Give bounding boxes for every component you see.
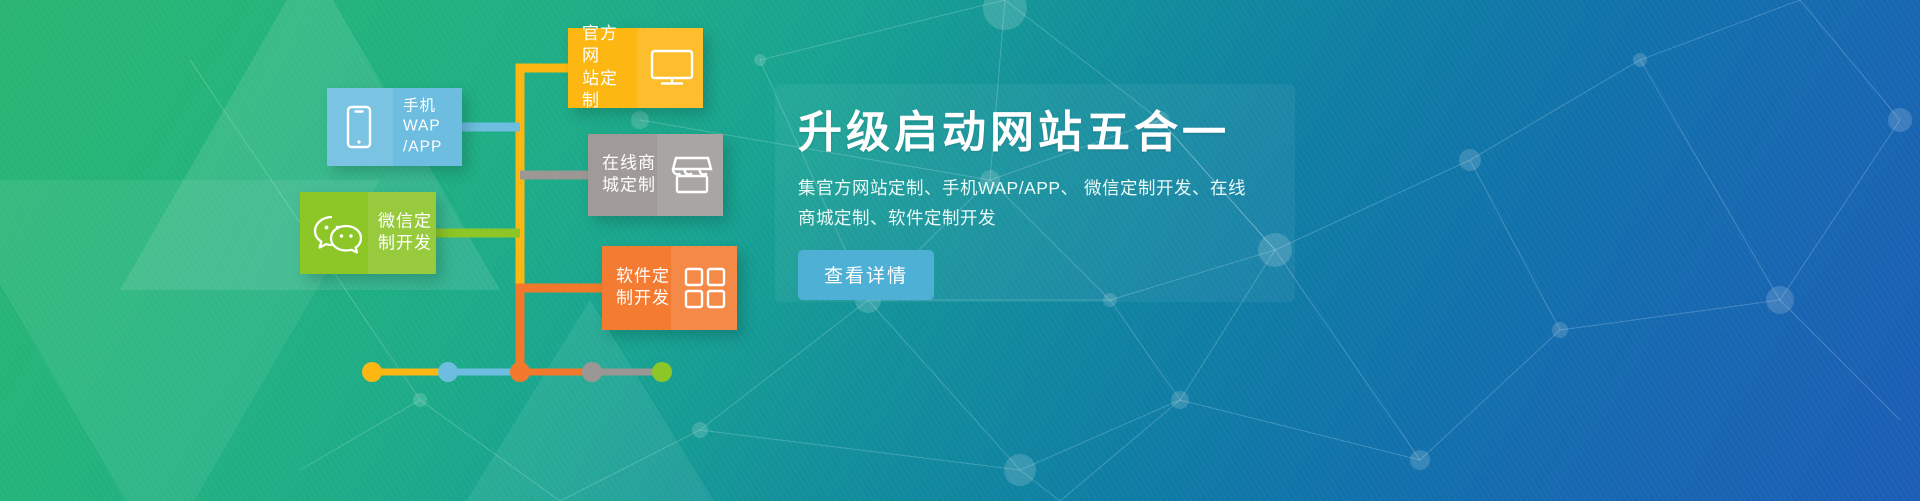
hero-subtitle: 集官方网站定制、手机WAP/APP、 微信定制开发、在线 商城定制、软件定制开发 bbox=[798, 173, 1268, 233]
progress-rail bbox=[358, 362, 688, 386]
card-software-development[interactable]: 软件定 制开发 bbox=[602, 246, 737, 330]
promo-banner: 官方网 站定制 手机WAP /APP 在线商 城定制 bbox=[0, 0, 1920, 501]
rail-dot bbox=[362, 362, 382, 382]
page-title: 升级启动网站五合一 bbox=[798, 110, 1318, 157]
wechat-icon bbox=[312, 211, 364, 255]
smartphone-icon bbox=[345, 104, 373, 150]
card-mobile-wap-app[interactable]: 手机WAP /APP bbox=[327, 88, 462, 166]
shop-icon bbox=[669, 154, 715, 196]
rail-dot bbox=[438, 362, 458, 382]
rail-dot bbox=[652, 362, 672, 382]
card-online-mall[interactable]: 在线商 城定制 bbox=[588, 134, 723, 216]
card-label-online-mall: 在线商 城定制 bbox=[602, 153, 656, 198]
grid-squares-icon bbox=[683, 266, 727, 310]
card-label-official-website: 官方网 站定制 bbox=[582, 23, 632, 113]
view-details-button[interactable]: 查看详情 bbox=[798, 250, 934, 300]
hero-copy: 升级启动网站五合一 集官方网站定制、手机WAP/APP、 微信定制开发、在线 商… bbox=[798, 110, 1318, 300]
card-label-software-development: 软件定 制开发 bbox=[616, 266, 672, 311]
hero-subtitle-line-1: 集官方网站定制、手机WAP/APP、 微信定制开发、在线 bbox=[798, 173, 1268, 203]
rail-dot bbox=[510, 362, 530, 382]
hero-subtitle-line-2: 商城定制、软件定制开发 bbox=[798, 203, 1268, 233]
diagram-connectors bbox=[0, 0, 900, 501]
card-wechat-development[interactable]: 微信定 制开发 bbox=[300, 192, 436, 274]
rail-dot bbox=[582, 362, 602, 382]
card-official-website[interactable]: 官方网 站定制 bbox=[568, 28, 703, 108]
card-label-wechat-development: 微信定 制开发 bbox=[378, 211, 438, 256]
monitor-icon bbox=[649, 48, 695, 88]
card-label-mobile-wap-app: 手机WAP /APP bbox=[403, 96, 469, 157]
